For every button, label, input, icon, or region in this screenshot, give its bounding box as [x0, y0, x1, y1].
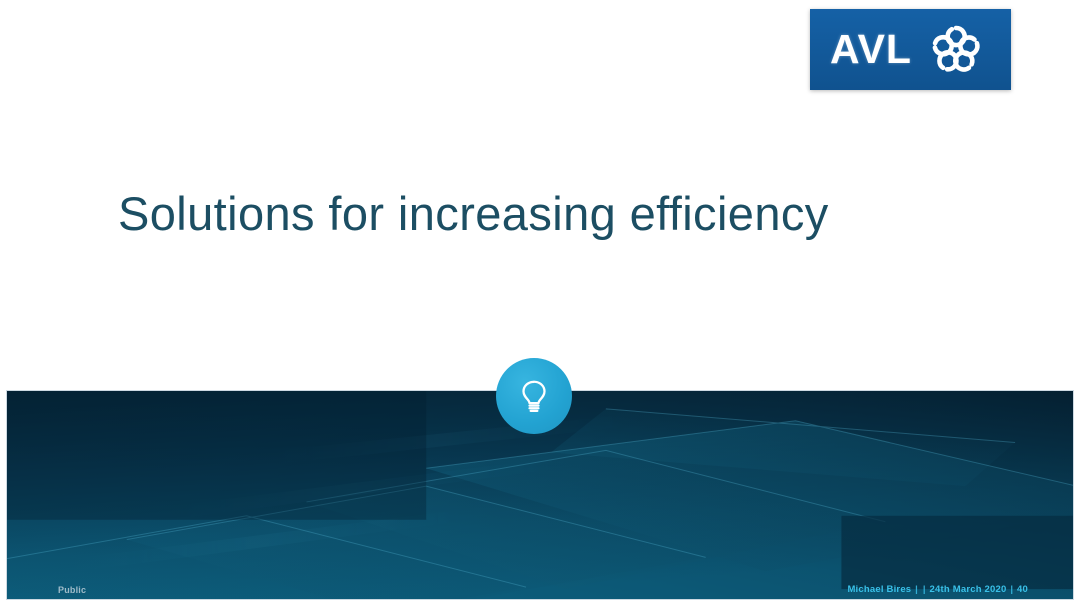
footer-separator-2: |: [922, 584, 927, 595]
avl-pinwheel-mark-icon: [928, 22, 984, 78]
avl-wordmark: AVL: [830, 29, 912, 70]
footer-date: 24th March 2020: [930, 584, 1007, 595]
footer-separator-1: |: [914, 584, 919, 595]
lightbulb-badge: [496, 358, 572, 434]
lightbulb-icon: [519, 379, 549, 414]
avl-logo: AVL: [810, 9, 1011, 90]
footer-page-number: 40: [1017, 584, 1028, 595]
footer-meta: Michael Bires | | 24th March 2020 | 40: [847, 584, 1028, 595]
slide-canvas: AVL: [0, 0, 1080, 608]
footer-classification: Public: [58, 585, 86, 595]
footer-separator-3: |: [1009, 584, 1014, 595]
footer-author: Michael Bires: [847, 584, 911, 595]
slide-title: Solutions for increasing efficiency: [118, 186, 978, 241]
